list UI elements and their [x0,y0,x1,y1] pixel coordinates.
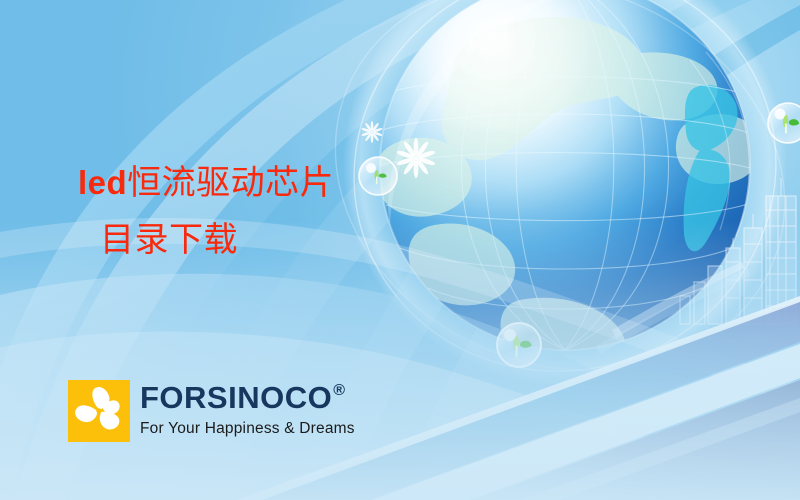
headline-block: led恒流驱动芯片 目录下载 [78,163,334,262]
headline-line-1: led恒流驱动芯片 [78,163,334,204]
registered-trademark-icon: ® [333,383,345,399]
headline-latin: led [78,164,127,201]
lower-light-wash [0,220,800,500]
banner-root: led恒流驱动芯片 目录下载 FORSINOCO® For Your Happi… [0,0,800,500]
forsinoco-pinwheel-mark [68,380,130,442]
logo-wordmark: FORSINOCO® [140,382,355,413]
headline-cjk: 恒流驱动芯片 [127,163,334,203]
headline-line-2: 目录下载 [100,220,334,261]
logo-wordmark-text: FORSINOCO [140,382,332,413]
bubble-windmill-top [359,157,397,195]
logo-tagline: For Your Happiness & Dreams [140,421,355,437]
bubble-windmill-right [768,103,800,143]
brand-logo: FORSINOCO® For Your Happiness & Dreams [68,380,355,442]
logo-text-block: FORSINOCO® For Your Happiness & Dreams [140,380,355,437]
